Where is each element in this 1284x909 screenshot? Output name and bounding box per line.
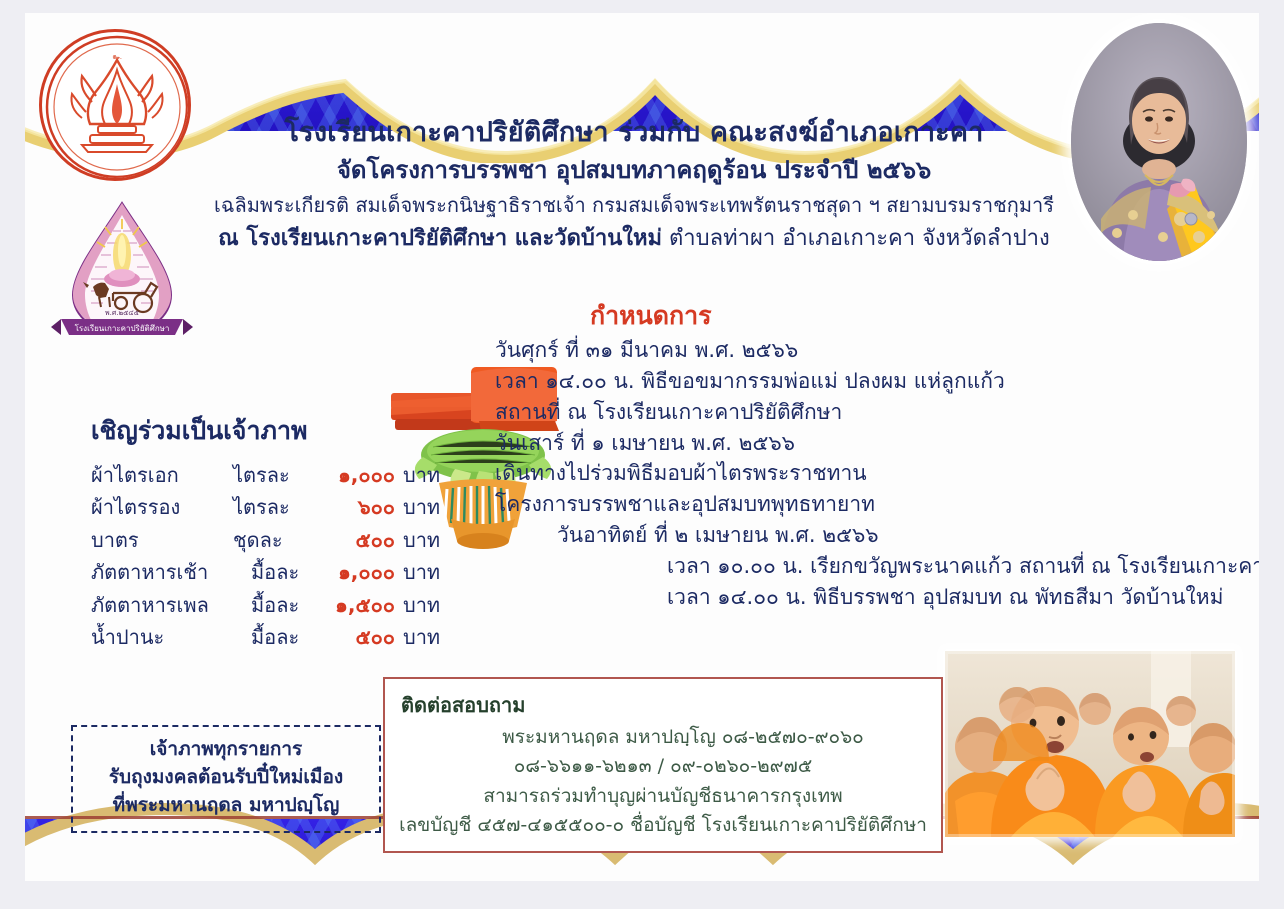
host-item-currency: บาท [395, 459, 440, 491]
host-item-unit: มื้อละ [251, 556, 325, 588]
header-line-3: เฉลิมพระเกียรติ สมเด็จพระกนิษฐาธิราชเจ้า… [203, 189, 1065, 221]
host-item-name: น้ำปานะ [91, 621, 251, 653]
header-line-4: ณ โรงเรียนเกาะคาปริยัติศึกษา และวัดบ้านใ… [203, 221, 1065, 256]
header-line-2: จัดโครงการบรรพชา อุปสมบทภาคฤดูร้อน ประจำ… [203, 152, 1065, 189]
host-item-amount: ๕๐๐ [325, 621, 395, 653]
buddhist-emblem-seal: ๛ [39, 29, 191, 181]
poster-paper: ๛ [25, 13, 1259, 881]
pledge-line-3: ที่พระมหานฤดล มหาปญฺโญ [73, 791, 379, 819]
host-item-name: ภัตตาหารเช้า [91, 556, 251, 588]
host-item-row: บาตรชุดละ๕๐๐บาท [91, 524, 491, 556]
svg-text:๛: ๛ [112, 52, 122, 61]
contact-line-2: ๐๘-๖๖๑๑-๖๒๑๓ / ๐๙-๐๒๖๐-๒๙๗๕ [385, 752, 941, 781]
agenda-row: วันอาทิตย์ ที่ ๒ เมษายน พ.ศ. ๒๕๖๖ [495, 520, 1255, 551]
contact-box: ติดต่อสอบถาม พระมหานฤดล มหาปญฺโญ ๐๘-๒๕๗๐… [383, 677, 943, 853]
contact-title: ติดต่อสอบถาม [385, 679, 941, 723]
school-crest-logo: พ.ศ.๒๕๔๕ โรงเรียนเกาะคาปริยัติศึกษา [47, 195, 199, 347]
host-item-amount: ๕๐๐ [325, 524, 395, 556]
host-item-unit: มื้อละ [251, 589, 325, 621]
host-item-amount: ๑,๐๐๐ [325, 459, 395, 491]
agenda-row: เวลา ๑๐.๐๐ น. เรียกขวัญพระนาคแก้ว สถานที… [495, 551, 1255, 582]
poster-header: โรงเรียนเกาะคาปริยัติศึกษา ร่วมกับ คณะสง… [203, 113, 1065, 257]
host-item-unit: ไตรละ [233, 459, 325, 491]
host-item-currency: บาท [395, 524, 440, 556]
host-item-unit: ไตรละ [233, 491, 325, 523]
contact-line-1: พระมหานฤดล มหาปญฺโญ ๐๘-๒๕๗๐-๙๐๖๐ [385, 723, 941, 752]
agenda-row: เวลา ๑๔.๐๐ น. พิธีบรรพชา อุปสมบท ณ พัทธส… [495, 582, 1255, 613]
host-section: เชิญร่วมเป็นเจ้าภาพ ผ้าไตรเอกไตรละ๑,๐๐๐บ… [91, 411, 491, 653]
host-item-name: ผ้าไตรรอง [91, 491, 233, 523]
host-item-row: น้ำปานะมื้อละ๕๐๐บาท [91, 621, 491, 653]
host-item-row: ภัตตาหารเพลมื้อละ๑,๕๐๐บาท [91, 589, 491, 621]
host-item-name: ผ้าไตรเอก [91, 459, 233, 491]
svg-text:พ.ศ.๒๕๔๕: พ.ศ.๒๕๔๕ [105, 309, 139, 317]
header-line-1: โรงเรียนเกาะคาปริยัติศึกษา ร่วมกับ คณะสง… [203, 113, 1065, 152]
host-title: เชิญร่วมเป็นเจ้าภาพ [91, 411, 491, 451]
agenda-row: วันศุกร์ ที่ ๓๑ มีนาคม พ.ศ. ๒๕๖๖ [495, 335, 1255, 366]
host-item-currency: บาท [395, 556, 440, 588]
host-item-amount: ๑,๕๐๐ [325, 589, 395, 621]
host-item-amount: ๑,๐๐๐ [325, 556, 395, 588]
venue-bold: ณ โรงเรียนเกาะคาปริยัติศึกษา และวัดบ้านใ… [218, 226, 662, 251]
agenda-title: กำหนดการ [590, 296, 712, 336]
host-item-currency: บาท [395, 589, 440, 621]
contact-lines: พระมหานฤดล มหาปญฺโญ ๐๘-๒๕๗๐-๙๐๖๐ ๐๘-๖๖๑๑… [385, 723, 941, 840]
host-item-row: ผ้าไตรเอกไตรละ๑,๐๐๐บาท [91, 459, 491, 491]
host-item-name: ภัตตาหารเพล [91, 589, 251, 621]
host-item-name: บาตร [91, 524, 233, 556]
host-item-row: ภัตตาหารเช้ามื้อละ๑,๐๐๐บาท [91, 556, 491, 588]
venue-rest: ตำบลท่าผา อำเภอเกาะคา จังหวัดลำปาง [662, 226, 1050, 251]
host-item-currency: บาท [395, 621, 440, 653]
agenda-row: วันเสาร์ ที่ ๑ เมษายน พ.ศ. ๒๕๖๖ [495, 428, 1255, 459]
agenda-row: โครงการบรรพชาและอุปสมบทพุทธทายาท [495, 489, 1255, 520]
agenda-row: เวลา ๑๔.๐๐ น. พิธีขอขมากรรมพ่อแม่ ปลงผม … [495, 366, 1255, 397]
host-item-unit: ชุดละ [233, 524, 325, 556]
host-item-currency: บาท [395, 491, 440, 523]
pledge-box: เจ้าภาพทุกรายการ รับถุงมงคลต้อนรับปี๋ใหม… [71, 725, 381, 833]
royal-portrait-princess [1071, 23, 1247, 261]
novice-monks-photo [945, 651, 1235, 837]
svg-text:โรงเรียนเกาะคาปริยัติศึกษา: โรงเรียนเกาะคาปริยัติศึกษา [75, 323, 170, 333]
pledge-line-2: รับถุงมงคลต้อนรับปี๋ใหม่เมือง [73, 763, 379, 791]
poster-canvas: ๛ [0, 0, 1284, 909]
host-item-row: ผ้าไตรรองไตรละ๖๐๐บาท [91, 491, 491, 523]
agenda-row: เดินทางไปร่วมพิธีมอบผ้าไตรพระราชทาน [495, 458, 1255, 489]
contact-line-3: สามารถร่วมทำบุญผ่านบัญชีธนาคารกรุงเทพ [385, 782, 941, 811]
contact-line-4: เลขบัญชี ๔๕๗-๔๑๕๕๐๐-๐ ชื่อบัญชี โรงเรียน… [385, 811, 941, 840]
host-item-list: ผ้าไตรเอกไตรละ๑,๐๐๐บาทผ้าไตรรองไตรละ๖๐๐บ… [91, 459, 491, 653]
host-item-unit: มื้อละ [251, 621, 325, 653]
agenda-list: วันศุกร์ ที่ ๓๑ มีนาคม พ.ศ. ๒๕๖๖เวลา ๑๔.… [495, 335, 1255, 613]
pledge-line-1: เจ้าภาพทุกรายการ [73, 735, 379, 763]
host-item-amount: ๖๐๐ [325, 491, 395, 523]
agenda-row: สถานที่ ณ โรงเรียนเกาะคาปริยัติศึกษา [495, 397, 1255, 428]
